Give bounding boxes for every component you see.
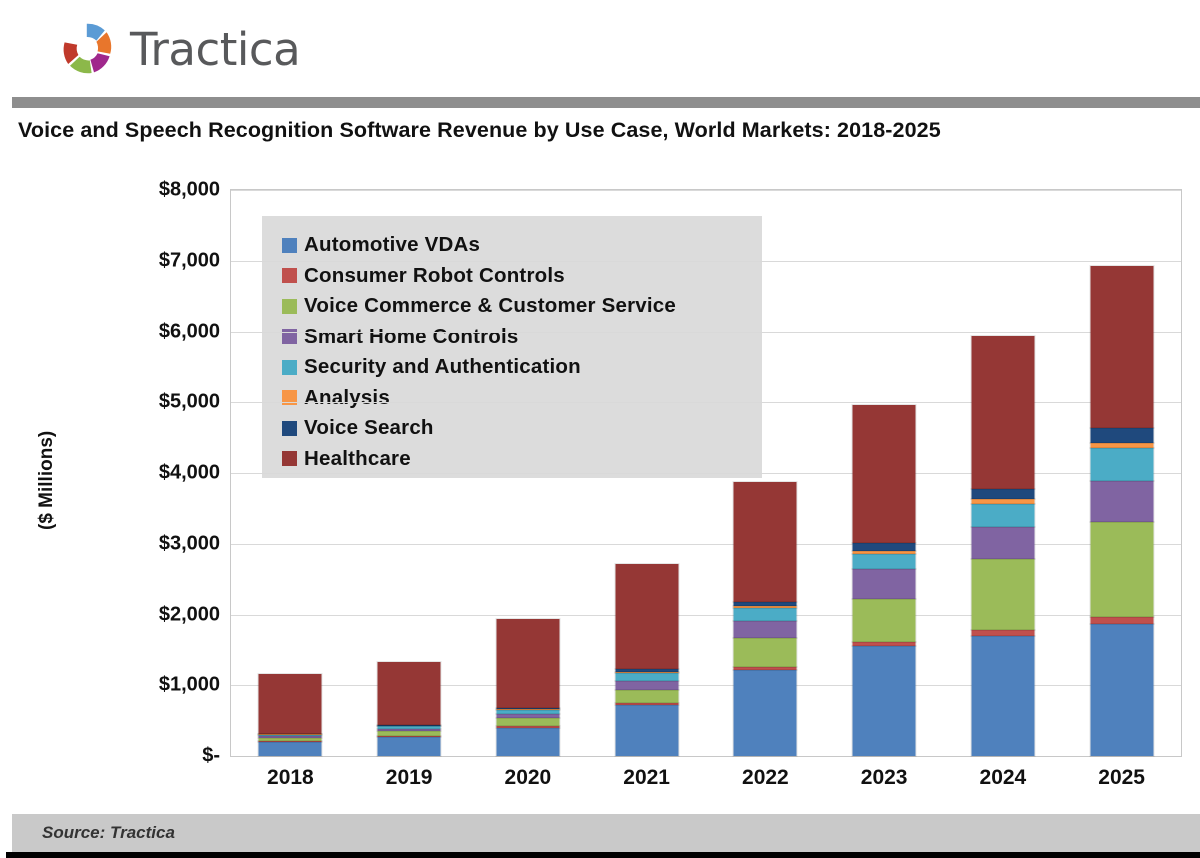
bar-2018[interactable]: [259, 674, 322, 756]
bar-segment: [853, 569, 916, 599]
legend-item[interactable]: Consumer Robot Controls: [282, 261, 762, 292]
brand-name: Tractica: [130, 27, 300, 72]
y-tick-label: $1,000: [110, 674, 220, 697]
x-axis-tick-labels: 20182019202020212022202320242025: [230, 760, 1182, 802]
y-axis-tick-labels: $8,000$7,000$6,000$5,000$4,000$3,000$2,0…: [108, 189, 220, 757]
header-divider: [12, 97, 1200, 108]
bar-2021[interactable]: [615, 564, 678, 756]
bar-2023[interactable]: [853, 405, 916, 756]
legend-label: Analysis: [304, 386, 390, 410]
bar-segment: [971, 504, 1034, 527]
bar-segment: [378, 737, 441, 756]
report-page: Tractica Voice and Speech Recognition So…: [0, 0, 1200, 858]
bar-segment: [378, 662, 441, 725]
legend-label: Consumer Robot Controls: [304, 264, 565, 288]
legend-swatch-icon: [282, 299, 297, 314]
bar-segment: [615, 681, 678, 689]
legend-item[interactable]: Analysis: [282, 383, 762, 414]
bar-segment: [734, 482, 797, 602]
bar-segment: [615, 673, 678, 681]
legend-swatch-icon: [282, 238, 297, 253]
x-tick-label: 2025: [1067, 766, 1177, 790]
legend-label: Automotive VDAs: [304, 233, 480, 257]
bar-segment: [615, 564, 678, 669]
legend-swatch-icon: [282, 421, 297, 436]
bar-segment: [615, 690, 678, 704]
gridline: [231, 544, 1181, 545]
bar-segment: [259, 674, 322, 733]
x-tick-label: 2018: [235, 766, 345, 790]
brand-header: Tractica: [6, 0, 1200, 97]
bar-segment: [734, 621, 797, 638]
source-label: Source: Tractica: [42, 823, 175, 843]
gridline: [231, 261, 1181, 262]
y-tick-label: $6,000: [110, 320, 220, 343]
bar-segment: [1090, 448, 1153, 481]
bar-segment: [734, 608, 797, 621]
bar-segment: [1090, 617, 1153, 624]
bar-segment: [853, 646, 916, 756]
tractica-pinwheel-logo-icon: [58, 19, 118, 79]
y-tick-label: $2,000: [110, 603, 220, 626]
bar-segment: [1090, 522, 1153, 617]
legend-item[interactable]: Automotive VDAs: [282, 230, 762, 261]
legend-swatch-icon: [282, 268, 297, 283]
bar-segment: [971, 527, 1034, 560]
gridline: [231, 685, 1181, 686]
x-tick-label: 2022: [710, 766, 820, 790]
bar-segment: [1090, 266, 1153, 428]
bar-2020[interactable]: [496, 619, 559, 756]
legend-swatch-icon: [282, 451, 297, 466]
legend-label: Voice Search: [304, 416, 434, 440]
y-tick-label: $7,000: [110, 249, 220, 272]
gridline: [231, 473, 1181, 474]
source-footer: Source: Tractica: [12, 814, 1200, 852]
gridline: [231, 190, 1181, 191]
x-tick-label: 2020: [473, 766, 583, 790]
bar-segment: [496, 619, 559, 708]
legend-label: Smart Home Controls: [304, 325, 519, 349]
bar-segment: [1090, 624, 1153, 756]
bar-segment: [853, 599, 916, 641]
bar-segment: [853, 543, 916, 551]
gridline: [231, 402, 1181, 403]
bar-segment: [1090, 428, 1153, 443]
bar-2019[interactable]: [378, 662, 441, 756]
gridline: [231, 332, 1181, 333]
bar-segment: [615, 705, 678, 756]
chart-legend: Automotive VDAsConsumer Robot ControlsVo…: [262, 216, 762, 478]
brand-logo: Tractica: [58, 18, 348, 80]
bar-2024[interactable]: [971, 336, 1034, 756]
bar-segment: [1090, 481, 1153, 522]
bar-2025[interactable]: [1090, 266, 1153, 756]
bar-segment: [971, 559, 1034, 630]
legend-label: Voice Commerce & Customer Service: [304, 294, 676, 318]
legend-item[interactable]: Healthcare: [282, 444, 762, 475]
legend-item[interactable]: Security and Authentication: [282, 352, 762, 383]
bar-segment: [496, 728, 559, 756]
bar-segment: [259, 742, 322, 757]
legend-label: Security and Authentication: [304, 355, 581, 379]
bar-segment: [971, 636, 1034, 756]
y-tick-label: $-: [110, 745, 220, 768]
chart-figure: ($ Millions) $8,000$7,000$6,000$5,000$4,…: [12, 160, 1200, 805]
bar-segment: [853, 405, 916, 542]
legend-label: Healthcare: [304, 447, 411, 471]
bar-segment: [971, 489, 1034, 500]
page-title: Voice and Speech Recognition Software Re…: [18, 118, 1198, 143]
footer-rule: [6, 852, 1200, 858]
legend-swatch-icon: [282, 360, 297, 375]
y-tick-label: $3,000: [110, 532, 220, 555]
bar-segment: [734, 638, 797, 667]
bar-segment: [853, 554, 916, 570]
x-tick-label: 2021: [592, 766, 702, 790]
legend-item[interactable]: Voice Search: [282, 413, 762, 444]
legend-item[interactable]: Smart Home Controls: [282, 322, 762, 353]
x-tick-label: 2023: [829, 766, 939, 790]
bar-segment: [734, 670, 797, 756]
gridline: [231, 615, 1181, 616]
y-tick-label: $4,000: [110, 462, 220, 485]
x-tick-label: 2019: [354, 766, 464, 790]
bar-segment: [496, 718, 559, 726]
legend-item[interactable]: Voice Commerce & Customer Service: [282, 291, 762, 322]
bar-segment: [971, 336, 1034, 488]
bar-2022[interactable]: [734, 482, 797, 756]
plot-area: Automotive VDAsConsumer Robot ControlsVo…: [230, 189, 1182, 757]
x-tick-label: 2024: [948, 766, 1058, 790]
y-axis-title: ($ Millions): [36, 431, 58, 530]
y-tick-label: $5,000: [110, 391, 220, 414]
y-tick-label: $8,000: [110, 179, 220, 202]
